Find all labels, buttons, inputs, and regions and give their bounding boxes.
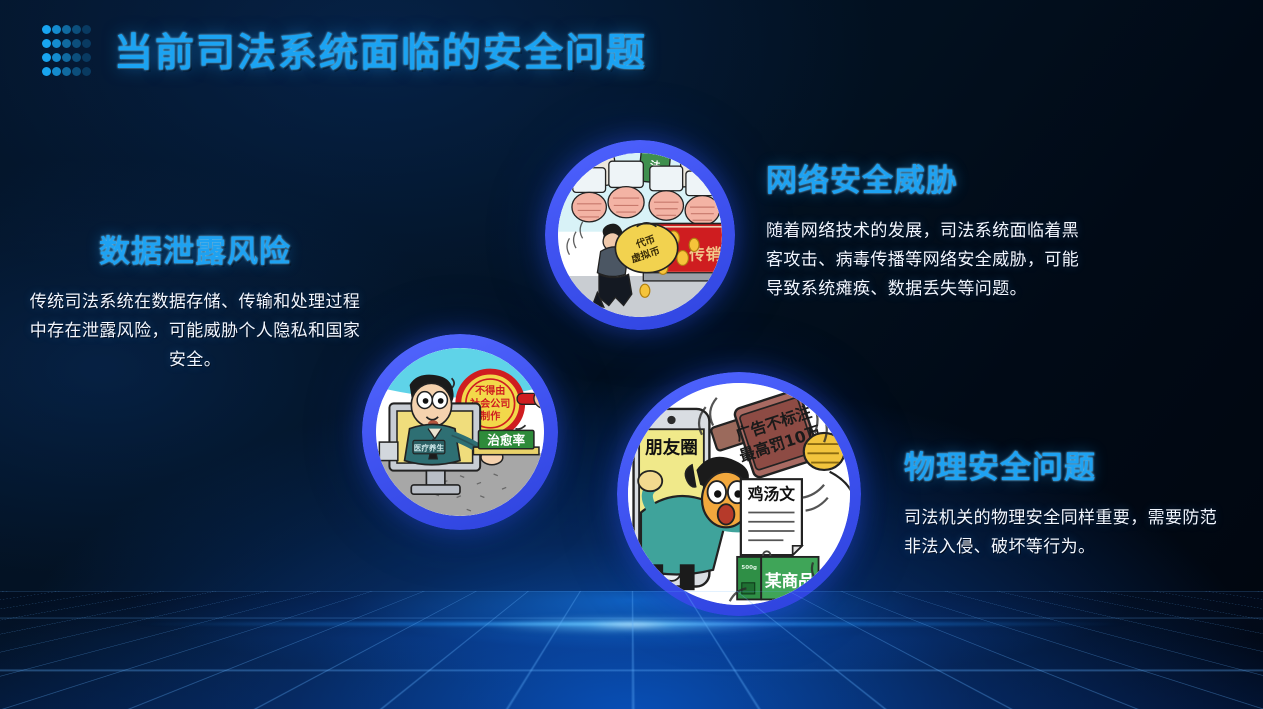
- medical-ad-monitor-illustration: 不得由 社会公司 制作: [376, 348, 544, 516]
- heading-data-leak: 数据泄露风险: [26, 226, 364, 271]
- body-physical-security: 司法机关的物理安全同样重要，需要防范非法入侵、破坏等行为。: [904, 503, 1224, 561]
- slide-canvas: 当前司法系统面临的安全问题 数据泄露风险 传统司法系统在数据存储、传输和处理过程…: [0, 0, 1263, 709]
- svg-text:治愈率: 治愈率: [487, 433, 525, 448]
- slide-header: 当前司法系统面临的安全问题: [42, 22, 647, 78]
- wechat-ad-gavel-illustration: 朋友圈: [628, 383, 850, 605]
- heading-network-security: 网络安全威胁: [766, 155, 1096, 200]
- page-title: 当前司法系统面临的安全问题: [114, 22, 647, 78]
- illustration-circle-data-leak: 不得由 社会公司 制作: [362, 334, 558, 530]
- illustration-circle-network-security: 法: [545, 140, 735, 330]
- svg-text:不得由: 不得由: [475, 384, 505, 397]
- perspective-grid-floor: [0, 591, 1263, 709]
- svg-text:医疗养生: 医疗养生: [414, 442, 445, 452]
- dot-grid-icon: [42, 22, 92, 78]
- illustration-circle-physical-security: 朋友圈: [617, 372, 861, 616]
- svg-text:500g: 500g: [741, 565, 757, 571]
- body-data-leak: 传统司法系统在数据存储、传输和处理过程中存在泄露风险，可能威胁个人隐私和国家安全…: [26, 287, 364, 375]
- text-block-network-security: 网络安全威胁 随着网络技术的发展，司法系统面临着黑客攻击、病毒传播等网络安全威胁…: [766, 155, 1096, 304]
- text-block-physical-security: 物理安全问题 司法机关的物理安全同样重要，需要防范非法入侵、破坏等行为。: [904, 442, 1224, 561]
- svg-text:制作: 制作: [480, 409, 500, 422]
- body-network-security: 随着网络技术的发展，司法系统面临着黑客攻击、病毒传播等网络安全威胁，可能导致系统…: [766, 216, 1096, 304]
- crypto-pyramid-scheme-illustration: 法: [558, 153, 722, 317]
- text-block-data-leak: 数据泄露风险 传统司法系统在数据存储、传输和处理过程中存在泄露风险，可能威胁个人…: [26, 226, 364, 375]
- horizon-line: [132, 621, 1132, 627]
- horizon-flare: [482, 613, 782, 637]
- heading-physical-security: 物理安全问题: [904, 442, 1224, 487]
- svg-text:鸡汤文: 鸡汤文: [748, 485, 795, 504]
- svg-text:朋友圈: 朋友圈: [645, 437, 698, 458]
- floor-glow-wash: [0, 591, 1263, 709]
